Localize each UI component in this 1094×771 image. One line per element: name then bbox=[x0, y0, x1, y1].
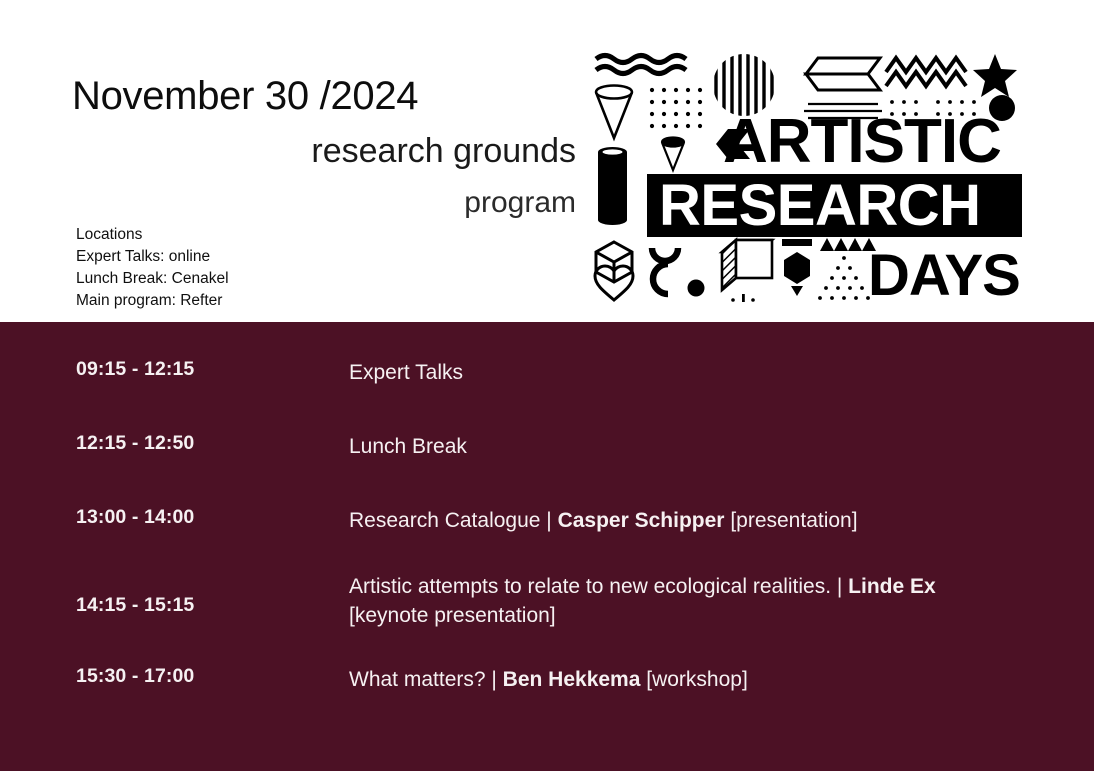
event-date: November 30 /2024 bbox=[72, 74, 418, 119]
artistic-research-days-logo: ARTISTIC RESEARCH DAYS bbox=[592, 52, 1032, 302]
schedule-panel: 09:15 - 12:15 Expert Talks 12:15 - 12:50… bbox=[0, 322, 1094, 771]
row-description: What matters? | Ben Hekkema [workshop] bbox=[349, 665, 949, 694]
arc-left-icon bbox=[653, 264, 668, 294]
poster-header: November 30 /2024 research grounds progr… bbox=[0, 0, 1094, 322]
row-description: Artistic attempts to relate to new ecolo… bbox=[349, 572, 949, 630]
triangle-dot-grid-icon bbox=[818, 256, 870, 300]
event-subtitle-secondary: program bbox=[464, 186, 576, 220]
logo-text-research: RESEARCH bbox=[659, 173, 981, 238]
table-row: 14:15 - 15:15 Artistic attempts to relat… bbox=[0, 572, 1094, 630]
row-time: 14:15 - 15:15 bbox=[0, 572, 349, 617]
title-block: November 30 /2024 research grounds progr… bbox=[0, 0, 590, 230]
sawtooth-icon bbox=[820, 238, 876, 251]
zigzag-lines-icon bbox=[886, 58, 966, 86]
row-time: 13:00 - 14:00 bbox=[0, 506, 349, 529]
logo-text-days: DAYS bbox=[868, 243, 1020, 302]
locations-heading: Locations bbox=[76, 224, 229, 246]
hatched-cube-icon bbox=[722, 240, 772, 302]
locations-block: Locations Expert Talks: online Lunch Bre… bbox=[76, 224, 229, 312]
arc-down-icon bbox=[652, 248, 678, 261]
row-description: Lunch Break bbox=[349, 432, 949, 461]
row-time: 15:30 - 17:00 bbox=[0, 665, 349, 688]
table-row: 13:00 - 14:00 Research Catalogue | Caspe… bbox=[0, 506, 1094, 535]
cone-outline-icon bbox=[596, 86, 632, 139]
star-icon bbox=[973, 54, 1017, 97]
cube-outline-icon bbox=[596, 242, 632, 282]
dot-grid-icon bbox=[650, 88, 702, 128]
row-time: 12:15 - 12:50 bbox=[0, 432, 349, 455]
small-cone-icon bbox=[662, 138, 684, 171]
wavy-lines-icon bbox=[596, 56, 686, 74]
table-row: 12:15 - 12:50 Lunch Break bbox=[0, 432, 1094, 461]
row-description: Research Catalogue | Casper Schipper [pr… bbox=[349, 506, 949, 535]
table-row: 09:15 - 12:15 Expert Talks bbox=[0, 358, 1094, 387]
location-lunch-break: Lunch Break: Cenakel bbox=[76, 268, 229, 290]
hexagonal-prism-icon bbox=[806, 58, 880, 90]
cylinder-icon bbox=[598, 147, 627, 225]
table-row: 15:30 - 17:00 What matters? | Ben Hekkem… bbox=[0, 665, 1094, 694]
event-subtitle: research grounds bbox=[311, 132, 576, 171]
location-main-program: Main program: Refter bbox=[76, 290, 229, 312]
location-expert-talks: Expert Talks: online bbox=[76, 246, 229, 268]
logo-text-artistic: ARTISTIC bbox=[723, 107, 1001, 176]
small-filled-circle-icon bbox=[688, 280, 705, 297]
hexagon-filled-icon bbox=[782, 239, 812, 296]
row-description: Expert Talks bbox=[349, 358, 949, 387]
row-time: 09:15 - 12:15 bbox=[0, 358, 349, 381]
